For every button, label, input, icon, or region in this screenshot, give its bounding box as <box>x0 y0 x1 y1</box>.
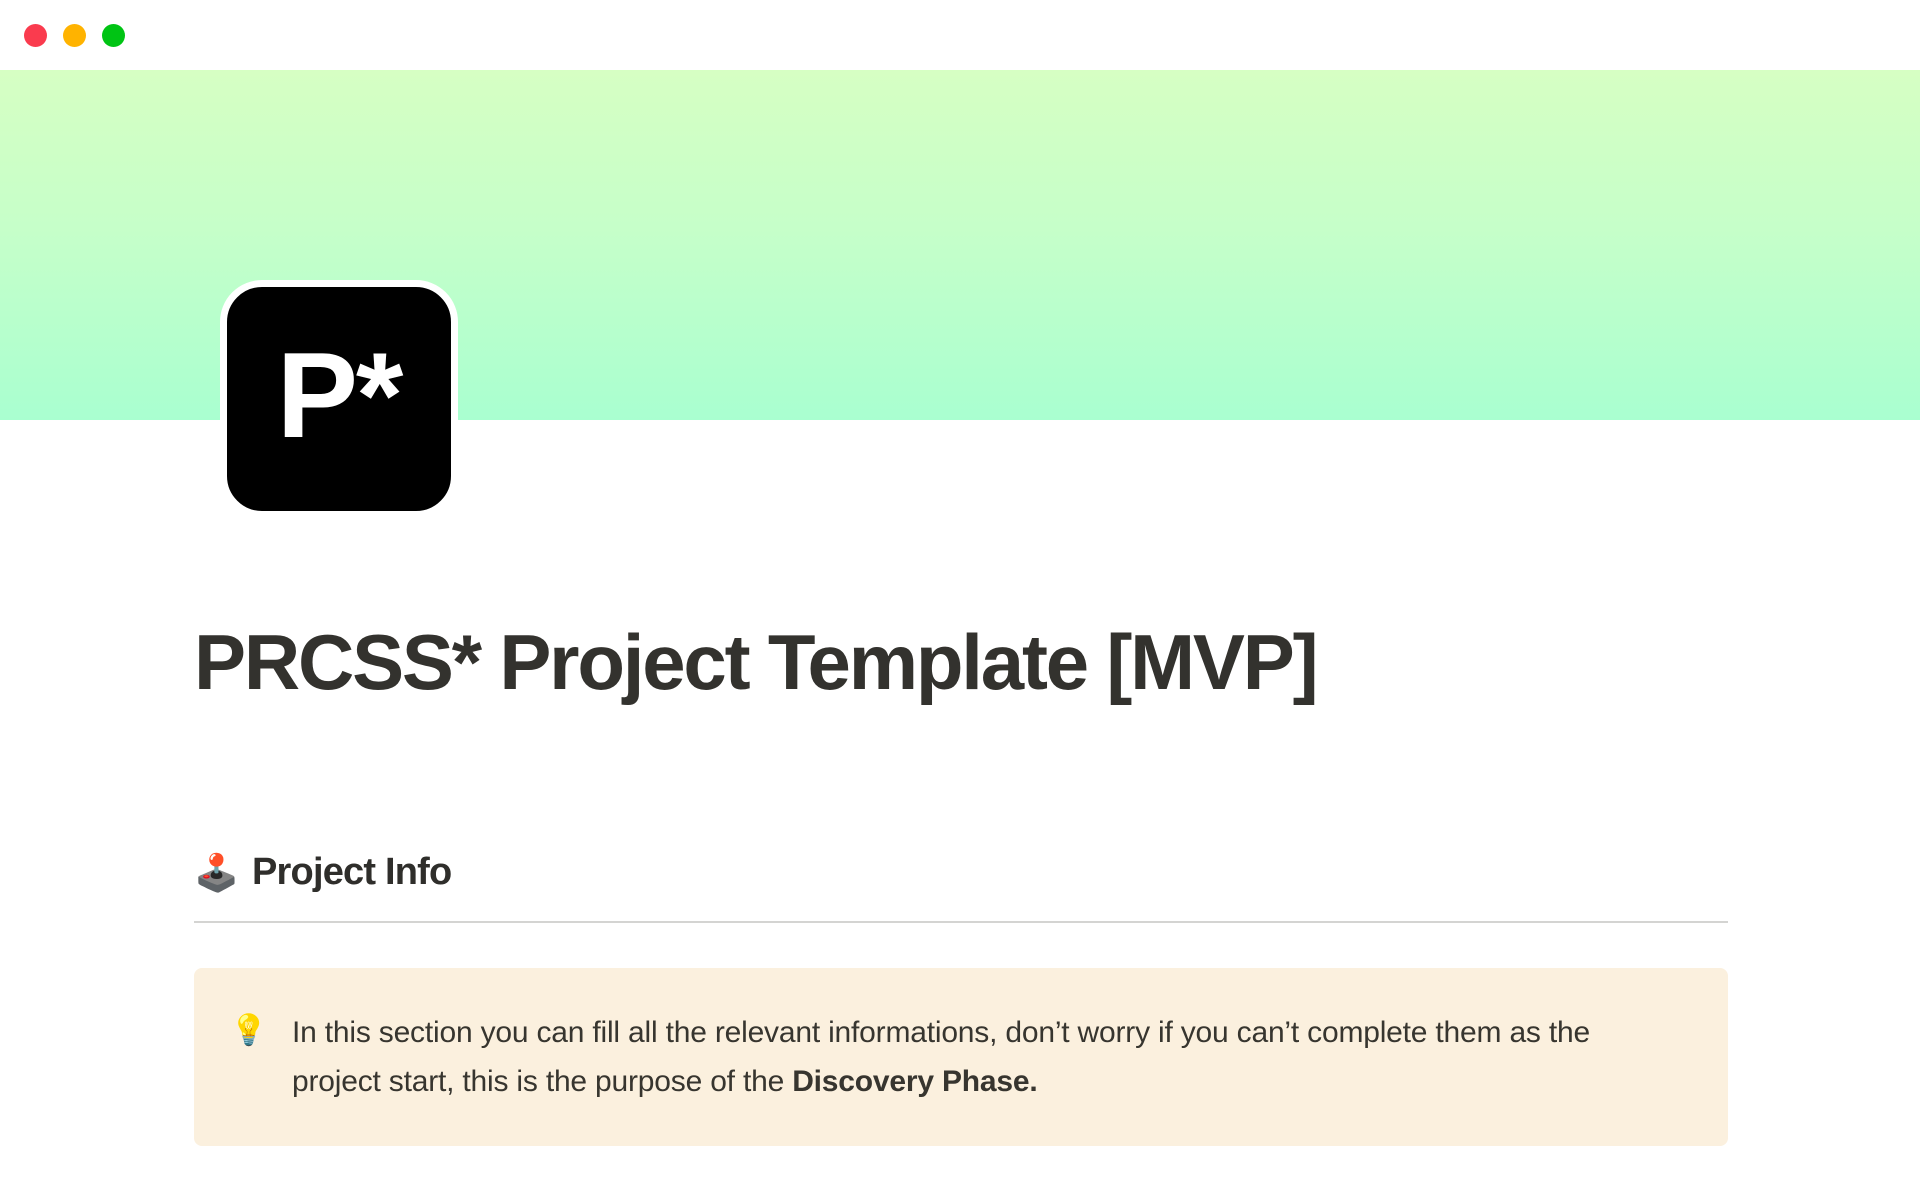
page-body: PRCSS* Project Template [MVP] 🕹️ Project… <box>0 420 1920 1146</box>
joystick-icon: 🕹️ <box>194 855 238 891</box>
callout-block[interactable]: 💡 In this section you can fill all the r… <box>194 968 1728 1146</box>
window-titlebar <box>0 0 1920 70</box>
callout-text: In this section you can fill all the rel… <box>292 1008 1684 1106</box>
section-heading-label: Project Info <box>252 850 451 896</box>
app-window: P* PRCSS* Project Template [MVP] 🕹️ Proj… <box>0 0 1920 1200</box>
section-divider <box>194 921 1728 923</box>
maximize-window-button[interactable] <box>102 24 125 47</box>
traffic-light-controls <box>24 24 125 47</box>
content-column: PRCSS* Project Template [MVP] 🕹️ Project… <box>194 620 1728 1146</box>
section-heading-project-info[interactable]: 🕹️ Project Info <box>194 850 1728 896</box>
minimize-window-button[interactable] <box>63 24 86 47</box>
lightbulb-icon: 💡 <box>230 1008 264 1054</box>
page-title[interactable]: PRCSS* Project Template [MVP] <box>194 620 1728 704</box>
prcss-logo-icon: P* <box>277 334 402 456</box>
close-window-button[interactable] <box>24 24 47 47</box>
page-icon[interactable]: P* <box>220 280 458 518</box>
callout-text-emphasis: Discovery Phase. <box>792 1065 1037 1098</box>
